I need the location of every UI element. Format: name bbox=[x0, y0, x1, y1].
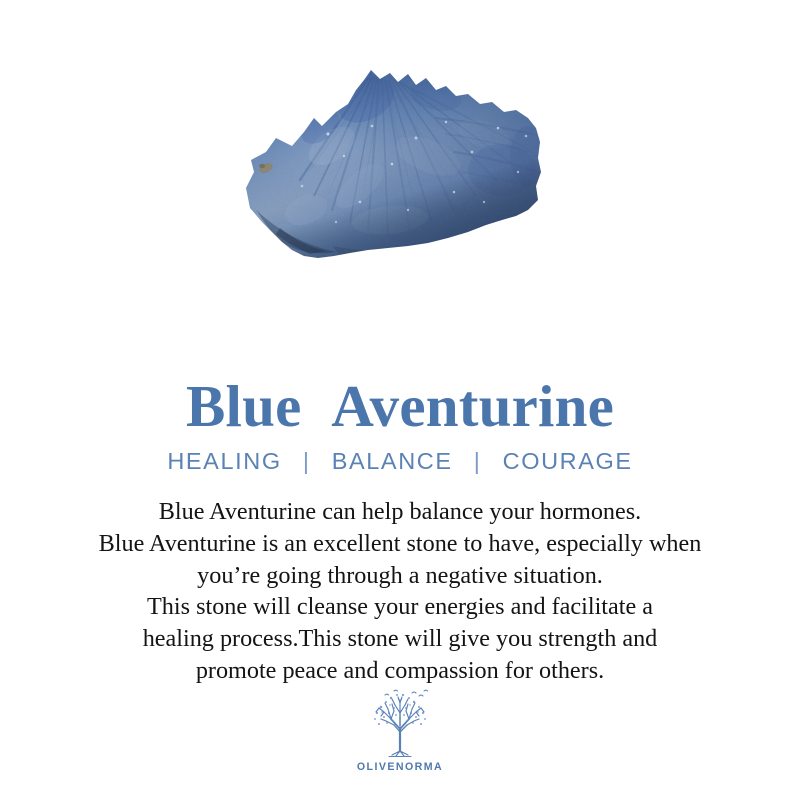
keyword-balance: BALANCE bbox=[332, 448, 453, 474]
keyword-separator: | bbox=[290, 446, 324, 476]
keyword-list: HEALING | BALANCE | COURAGE bbox=[0, 446, 800, 476]
keyword-separator: | bbox=[461, 446, 495, 476]
keyword-healing: HEALING bbox=[167, 448, 281, 474]
crystal-info-card: Blue Aventurine HEALING | BALANCE | COUR… bbox=[0, 0, 800, 800]
description-line: This stone will cleanse your energies an… bbox=[20, 591, 780, 623]
description-line: Blue Aventurine is an excellent stone to… bbox=[20, 528, 780, 560]
description-line: promote peace and compassion for others. bbox=[20, 655, 780, 687]
description-line: Blue Aventurine can help balance your ho… bbox=[20, 496, 780, 528]
brand-wordmark: OLIVENORMA bbox=[0, 761, 800, 773]
hero-image-container bbox=[0, 60, 800, 275]
page-title: Blue Aventurine bbox=[0, 372, 800, 440]
blue-aventurine-raw-stone bbox=[240, 60, 560, 265]
olive-tree-icon bbox=[367, 688, 433, 760]
brand-logo: OLIVENORMA bbox=[0, 688, 800, 773]
keyword-courage: COURAGE bbox=[503, 448, 633, 474]
description-text: Blue Aventurine can help balance your ho… bbox=[20, 496, 780, 687]
description-line: you’re going through a negative situatio… bbox=[20, 560, 780, 592]
description-line: healing process.This stone will give you… bbox=[20, 623, 780, 655]
